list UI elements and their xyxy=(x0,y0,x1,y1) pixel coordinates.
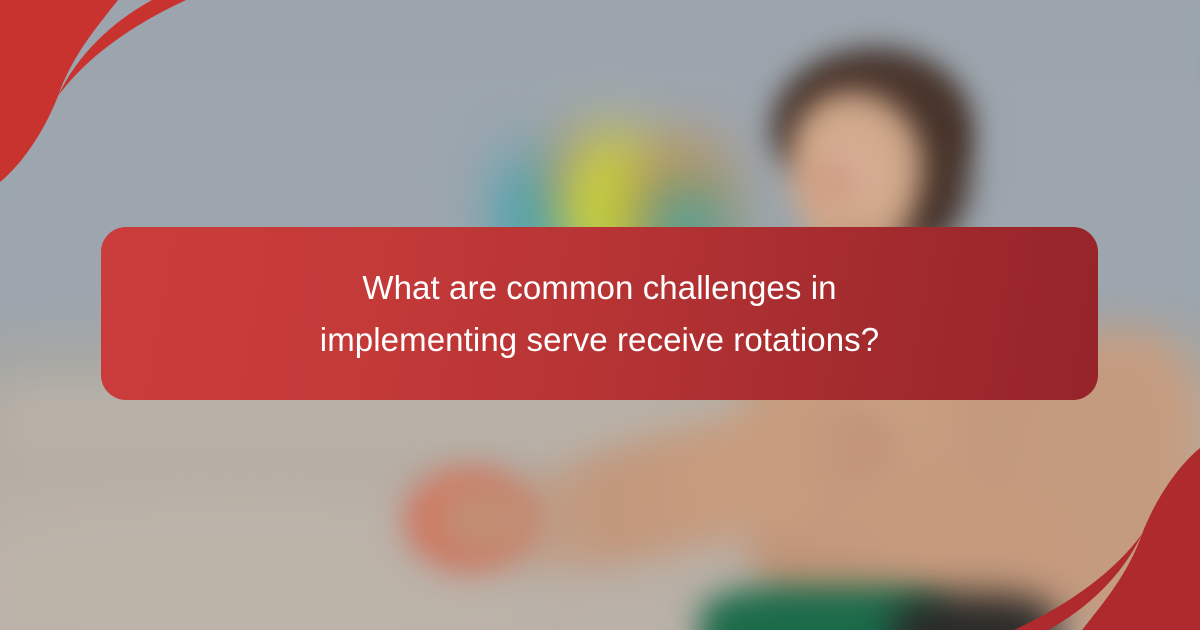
thumbnail-canvas: What are common challenges in implementi… xyxy=(0,0,1200,630)
corner-swoosh-top-left xyxy=(0,0,210,190)
question-text: What are common challenges in implementi… xyxy=(320,262,879,366)
corner-swoosh-bottom-right xyxy=(990,440,1200,630)
question-banner: What are common challenges in implementi… xyxy=(101,227,1098,400)
